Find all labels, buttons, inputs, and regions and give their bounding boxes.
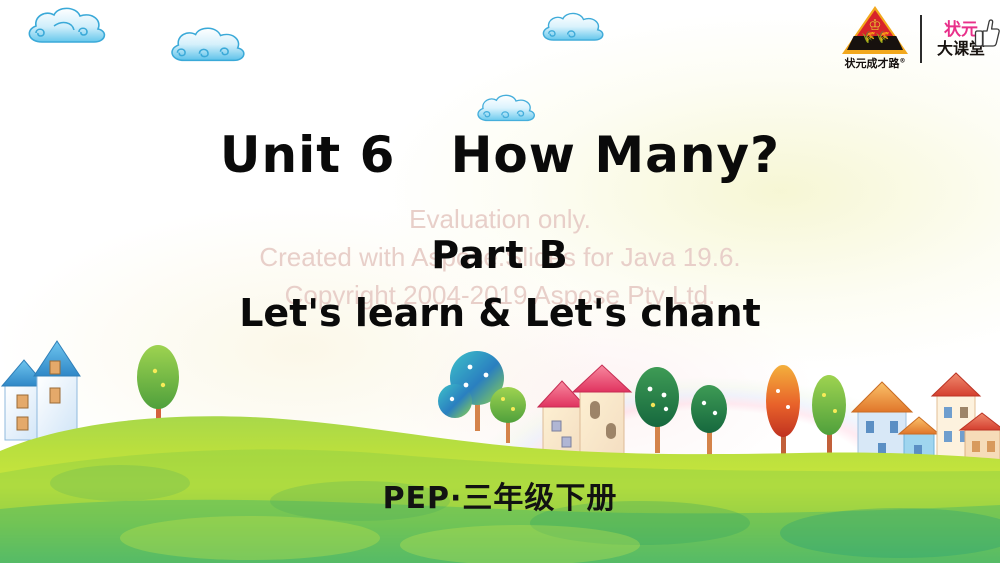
textbook-label: PEP·三年级下册 [0,480,1000,518]
green-tree-left [137,345,179,421]
logo-classroom-line1: 状元 [944,21,978,39]
cloud-top-center-icon [537,10,611,48]
logo-brand-text: 状元成才路® [845,55,906,71]
blue-roof-tower-left [34,341,80,440]
part-label: Part B [0,233,1000,277]
dark-green-tree-a [635,367,679,453]
teal-tree [438,351,504,431]
logo-classroom-group: 状元 大课堂 [930,21,992,57]
logo-divider [920,15,922,63]
cloud-top-left-2-icon [165,24,253,70]
dark-green-tree-b [691,385,727,455]
cloud-mid-center-icon [472,92,542,128]
triangle-emblem-icon: ♔ 🌾🌾 [842,6,908,54]
orange-tree [766,365,800,457]
subtitle: Let's learn & Let's chant [0,291,1000,335]
brand-logo: ♔ 🌾🌾 状元成才路® 状元 大课堂 [838,6,992,71]
cloud-top-left-icon [22,4,114,52]
slide-canvas: ♔ 🌾🌾 状元成才路® 状元 大课堂 [0,0,1000,563]
landscape-illustration [0,333,1000,563]
small-green-tree-center [490,387,526,443]
green-tree-right [812,375,846,457]
logo-triangle-group: ♔ 🌾🌾 状元成才路® [838,6,912,71]
thumbs-up-icon [974,17,1000,52]
page-title: Unit 6 How Many? [0,126,1000,184]
registered-mark: ® [900,57,906,64]
